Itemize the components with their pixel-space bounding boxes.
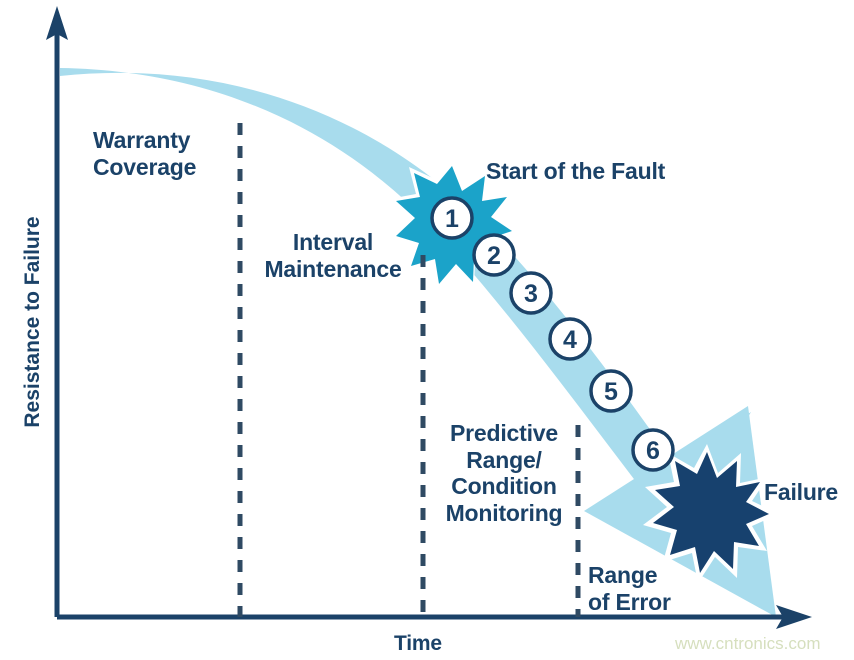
zone-label-range-of-error: Range of Error xyxy=(588,562,671,615)
stage-number-3: 3 xyxy=(524,280,538,308)
annotation-failure: Failure xyxy=(764,479,838,506)
stage-number-2: 2 xyxy=(487,242,501,270)
stage-number-4: 4 xyxy=(563,326,577,354)
diagram-canvas: 1 2 3 4 5 6 xyxy=(0,0,854,660)
zone-label-interval-maintenance: Interval Maintenance xyxy=(253,229,413,282)
stage-number-1: 1 xyxy=(445,205,459,233)
stage-number-6: 6 xyxy=(646,437,660,465)
pf-curve-diagram: 1 2 3 4 5 6 Warranty Cov xyxy=(0,0,854,660)
stage-marker-4[interactable]: 4 xyxy=(550,319,590,359)
stage-marker-6[interactable]: 6 xyxy=(633,430,673,470)
stage-marker-1[interactable]: 1 xyxy=(432,198,472,238)
stage-marker-5[interactable]: 5 xyxy=(591,371,631,411)
x-axis-label: Time xyxy=(394,632,442,656)
zone-label-warranty-coverage: Warranty Coverage xyxy=(93,127,196,180)
zone-label-predictive-range: Predictive Range/ Condition Monitoring xyxy=(434,420,574,527)
watermark-text: www.cntronics.com xyxy=(675,634,820,654)
stage-marker-3[interactable]: 3 xyxy=(511,273,551,313)
y-axis-label: Resistance to Failure xyxy=(21,207,45,437)
stage-number-5: 5 xyxy=(604,378,618,406)
stage-marker-2[interactable]: 2 xyxy=(474,235,514,275)
annotation-start-of-fault: Start of the Fault xyxy=(486,158,665,185)
